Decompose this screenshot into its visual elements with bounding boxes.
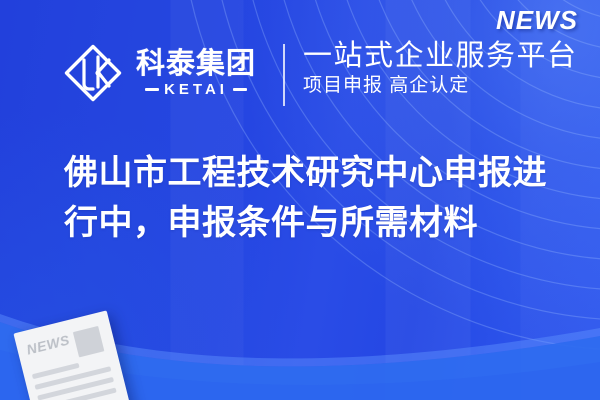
slogan-main: 一站式企业服务平台 (303, 40, 578, 73)
logo-dash-right-icon (233, 88, 247, 91)
vertical-divider (283, 44, 285, 106)
logo-wordmark: 科泰集团 KETAI (136, 49, 256, 97)
company-logo[interactable]: 科泰集团 KETAI (62, 42, 256, 104)
news-tag: NEWS (496, 5, 578, 36)
ketai-diamond-monogram-icon (62, 42, 124, 104)
slogan-sub: 项目申报 高企认定 (303, 75, 578, 98)
logo-company-name-cn: 科泰集团 (136, 49, 256, 79)
slogan-block: 一站式企业服务平台 项目申报 高企认定 (303, 40, 578, 98)
banner-header: 科泰集团 KETAI 一站式企业服务平台 项目申报 高企认定 NEWS (0, 0, 600, 140)
news-banner: 科泰集团 KETAI 一站式企业服务平台 项目申报 高企认定 NEWS 佛山市工… (0, 0, 600, 400)
logo-company-name-en: KETAI (164, 82, 228, 97)
logo-dash-left-icon (145, 88, 159, 91)
logo-company-name-en-row: KETAI (136, 82, 256, 97)
page-title: 佛山市工程技术研究中心申报进行中，申报条件与所需材料 (64, 148, 564, 249)
